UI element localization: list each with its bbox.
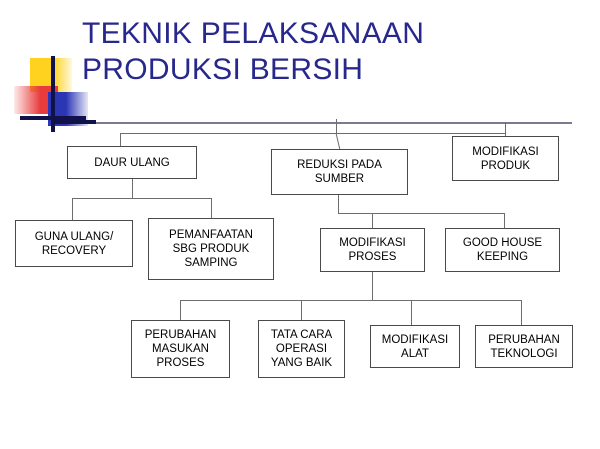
connector-reduksi-bus: [338, 213, 505, 214]
connector-daur-ulang-bus: [72, 198, 212, 199]
node-pemanfaatan-sbg-produk-samping[interactable]: PEMANFAATAN SBG PRODUK SAMPING: [148, 218, 274, 280]
title-underline-rule: [52, 122, 572, 124]
node-daur-ulang[interactable]: DAUR ULANG: [67, 146, 197, 179]
connector-reduksi-stem: [338, 195, 339, 214]
connector-daur-ulang-to-pemanfaatan: [211, 198, 212, 218]
connector-daur-ulang-stem: [132, 179, 133, 199]
connector-reduksi-to-modifikasi-proses: [372, 213, 373, 229]
node-perubahan-teknologi[interactable]: PERUBAHAN TEKNOLOGI: [475, 325, 573, 368]
node-modifikasi-produk[interactable]: MODIFIKASI PRODUK: [452, 136, 559, 181]
slide-canvas: TEKNIK PELAKSANAAN PRODUKSI BERSIH DAUR …: [0, 0, 600, 449]
node-good-house-keeping[interactable]: GOOD HOUSE KEEPING: [445, 228, 560, 272]
page-title: TEKNIK PELAKSANAAN PRODUKSI BERSIH: [82, 16, 582, 88]
node-tata-cara-operasi-yang-baik[interactable]: TATA CARA OPERASI YANG BAIK: [258, 320, 345, 378]
node-reduksi-pada-sumber[interactable]: REDUKSI PADA SUMBER: [271, 149, 408, 195]
connector-to-perubahan-masukan-proses: [180, 300, 181, 321]
title-underline-accent: [52, 120, 96, 124]
connector-modifikasi-proses-bus: [180, 300, 521, 301]
connector-reduksi-to-good-house-keeping: [504, 213, 505, 229]
connector-root-bus: [120, 133, 505, 134]
connector-root-stem: [336, 119, 337, 134]
connector-daur-ulang-to-guna-ulang: [72, 198, 73, 220]
node-modifikasi-proses[interactable]: MODIFIKASI PROSES: [320, 228, 425, 272]
connector-root-to-modifikasi-produk: [505, 122, 506, 136]
node-guna-ulang-recovery[interactable]: GUNA ULANG/ RECOVERY: [15, 220, 133, 267]
connector-root-to-daur-ulang: [120, 133, 121, 147]
connector-to-tata-cara-operasi: [301, 300, 302, 321]
node-modifikasi-alat[interactable]: MODIFIKASI ALAT: [370, 325, 460, 368]
connector-to-modifikasi-alat: [411, 300, 412, 326]
connector-to-perubahan-teknologi: [521, 300, 522, 326]
connector-modifikasi-proses-stem: [372, 272, 373, 301]
node-perubahan-masukan-proses[interactable]: PERUBAHAN MASUKAN PROSES: [131, 320, 230, 378]
